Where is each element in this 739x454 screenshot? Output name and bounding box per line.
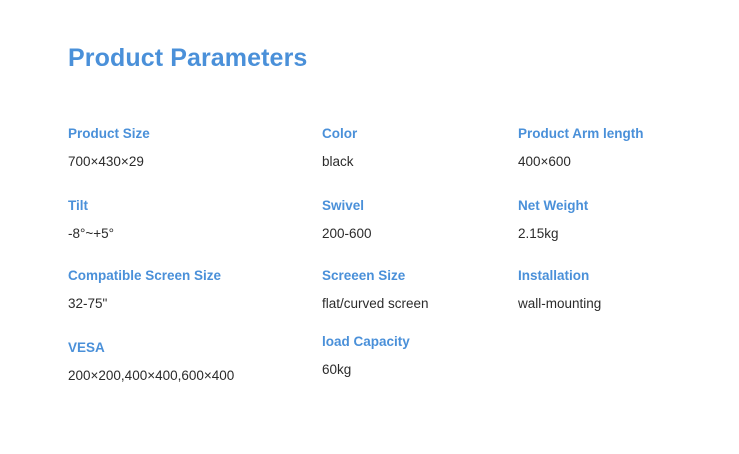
product-parameters-page: Product Parameters Product Size 700×430×… bbox=[0, 0, 739, 454]
spec-item-net-weight: Net Weight 2.15kg bbox=[518, 198, 733, 242]
spec-label: VESA bbox=[68, 340, 318, 356]
spec-label: Tilt bbox=[68, 198, 318, 214]
spec-value: black bbox=[322, 154, 512, 170]
specifications-grid: Product Size 700×430×29 Tilt -8°~+5° Com… bbox=[0, 0, 739, 454]
spec-item-screen-size: Screeen Size flat/curved screen bbox=[322, 268, 512, 312]
spec-label: Screeen Size bbox=[322, 268, 512, 284]
spec-item-vesa: VESA 200×200,400×400,600×400 bbox=[68, 340, 318, 384]
spec-label: load Capacity bbox=[322, 334, 512, 350]
spec-value: 400×600 bbox=[518, 154, 733, 170]
spec-value: 32-75" bbox=[68, 296, 318, 312]
spec-label: Color bbox=[322, 126, 512, 142]
spec-label: Installation bbox=[518, 268, 733, 284]
spec-item-load-capacity: load Capacity 60kg bbox=[322, 334, 512, 378]
spec-value: 200×200,400×400,600×400 bbox=[68, 368, 318, 384]
spec-item-color: Color black bbox=[322, 126, 512, 170]
spec-value: 2.15kg bbox=[518, 226, 733, 242]
spec-item-product-arm-length: Product Arm length 400×600 bbox=[518, 126, 733, 170]
spec-value: -8°~+5° bbox=[68, 226, 318, 242]
spec-value: 700×430×29 bbox=[68, 154, 318, 170]
spec-value: 200-600 bbox=[322, 226, 512, 242]
spec-label: Product Size bbox=[68, 126, 318, 142]
spec-value: 60kg bbox=[322, 362, 512, 378]
spec-item-tilt: Tilt -8°~+5° bbox=[68, 198, 318, 242]
spec-label: Product Arm length bbox=[518, 126, 733, 142]
spec-item-installation: Installation wall-mounting bbox=[518, 268, 733, 312]
spec-label: Net Weight bbox=[518, 198, 733, 214]
spec-item-compatible-screen-size: Compatible Screen Size 32-75" bbox=[68, 268, 318, 312]
spec-item-product-size: Product Size 700×430×29 bbox=[68, 126, 318, 170]
spec-item-swivel: Swivel 200-600 bbox=[322, 198, 512, 242]
spec-value: wall-mounting bbox=[518, 296, 733, 312]
spec-value: flat/curved screen bbox=[322, 296, 512, 312]
spec-label: Swivel bbox=[322, 198, 512, 214]
spec-label: Compatible Screen Size bbox=[68, 268, 318, 284]
